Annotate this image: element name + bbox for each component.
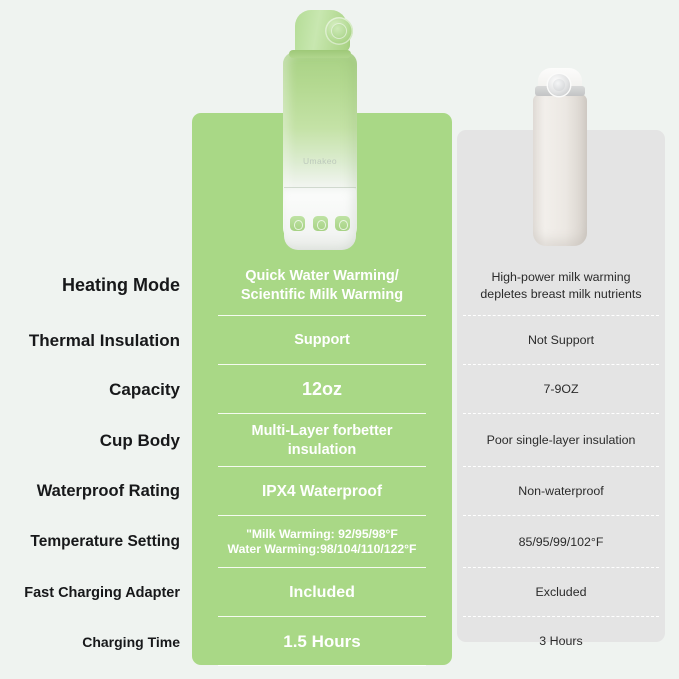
row-label-temperature-setting: Temperature Setting	[0, 516, 192, 568]
theirs-value-fast-charging-adapter: Excluded	[457, 568, 665, 617]
row-label-thermal-insulation: Thermal Insulation	[0, 316, 192, 365]
table-row: Charging Time 1.5 Hours 3 Hours	[0, 617, 679, 666]
row-label-fast-charging-adapter: Fast Charging Adapter	[0, 568, 192, 617]
theirs-value-capacity: 7-9OZ	[457, 365, 665, 414]
thermos-lid-button-inner-icon	[553, 79, 565, 91]
ours-value-waterproof-rating: IPX4 Waterproof	[192, 467, 452, 516]
bottle-control-buttons	[290, 216, 350, 231]
table-row: Capacity 12oz 7-9OZ	[0, 365, 679, 414]
green-water-bottle-image: Umakeo	[277, 10, 363, 242]
table-row: Waterproof Rating IPX4 Waterproof Non-wa…	[0, 467, 679, 516]
theirs-value-thermal-insulation: Not Support	[457, 316, 665, 365]
theirs-value-heating-mode: High-power milk warmingdepletes breast m…	[457, 255, 665, 316]
white-thermos-bottle-image	[527, 68, 593, 246]
theirs-value-cup-body: Poor single-layer insulation	[457, 414, 665, 467]
bottle-neck	[289, 50, 351, 58]
row-label-capacity: Capacity	[0, 365, 192, 414]
ours-value-charging-time: 1.5 Hours	[192, 617, 452, 666]
ours-value-fast-charging-adapter: Included	[192, 568, 452, 617]
table-row: Temperature Setting "Milk Warming: 92/95…	[0, 516, 679, 568]
theirs-value-charging-time: 3 Hours	[457, 617, 665, 666]
theirs-value-temperature-setting: 85/95/99/102°F	[457, 516, 665, 568]
thermos-body	[533, 94, 587, 246]
bottle-seam-line	[284, 187, 356, 188]
row-label-charging-time: Charging Time	[0, 617, 192, 666]
theirs-value-waterproof-rating: Non-waterproof	[457, 467, 665, 516]
ours-value-cup-body: Multi-Layer forbetterinsulation	[192, 414, 452, 467]
bottle-brand-label: Umakeo	[277, 156, 363, 166]
bottle-button-power-icon	[335, 216, 350, 231]
comparison-table: Heating Mode Quick Water Warming/Scienti…	[0, 255, 679, 666]
table-row: Fast Charging Adapter Included Excluded	[0, 568, 679, 617]
bottle-lid-button-inner-icon	[331, 23, 347, 39]
bottle-lid-button-icon	[325, 17, 353, 45]
row-label-heating-mode: Heating Mode	[0, 255, 192, 316]
table-row: Heating Mode Quick Water Warming/Scienti…	[0, 255, 679, 316]
thermos-lid-button-icon	[548, 74, 570, 96]
ours-value-heating-mode: Quick Water Warming/Scientific Milk Warm…	[192, 255, 452, 316]
table-row: Thermal Insulation Support Not Support	[0, 316, 679, 365]
table-row: Cup Body Multi-Layer forbetterinsulation…	[0, 414, 679, 467]
row-label-waterproof-rating: Waterproof Rating	[0, 467, 192, 516]
bottle-button-milk-icon	[290, 216, 305, 231]
ours-value-temperature-setting: "Milk Warming: 92/95/98°FWater Warming:9…	[192, 516, 452, 568]
bottle-button-water-icon	[313, 216, 328, 231]
ours-value-thermal-insulation: Support	[192, 316, 452, 365]
ours-value-capacity: 12oz	[192, 365, 452, 414]
row-label-cup-body: Cup Body	[0, 414, 192, 467]
